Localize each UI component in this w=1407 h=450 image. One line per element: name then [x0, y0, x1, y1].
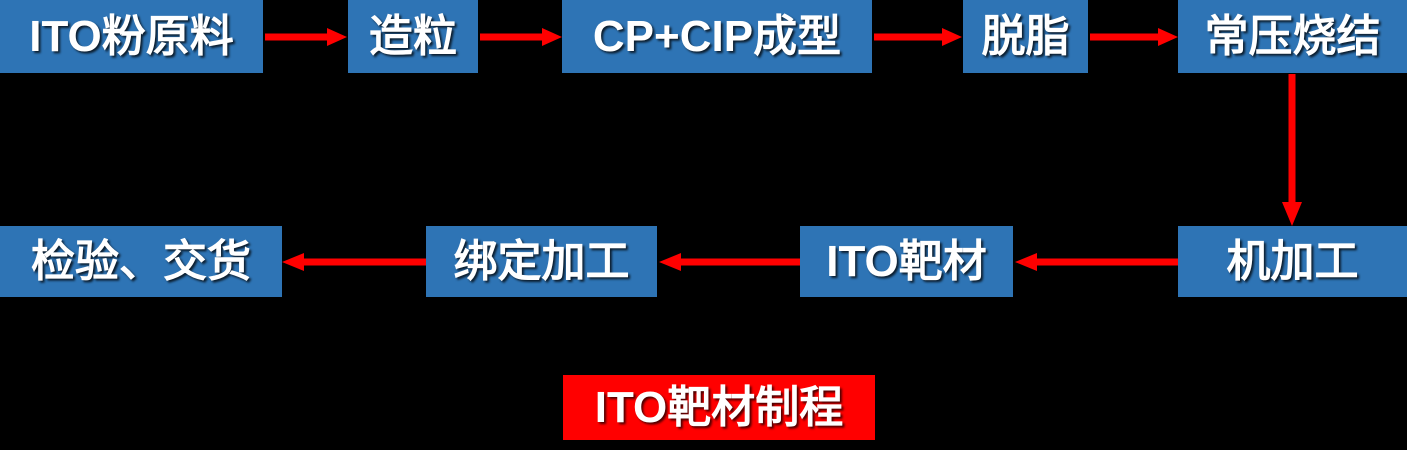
node-label: 绑定加工: [454, 240, 630, 284]
arrow-degreasing-to-sintering: [1090, 26, 1178, 48]
node-ito-target[interactable]: ITO靶材: [800, 226, 1013, 297]
node-degreasing[interactable]: 脱脂: [963, 0, 1088, 73]
node-label: 造粒: [369, 15, 457, 59]
arrow-bonding-to-inspection: [282, 251, 426, 273]
node-atmospheric-sintering[interactable]: 常压烧结: [1178, 0, 1407, 73]
node-ito-powder-raw-material[interactable]: ITO粉原料: [0, 0, 263, 73]
arrow-powder-to-granulation: [265, 26, 347, 48]
node-label: CP+CIP成型: [593, 15, 841, 59]
arrow-machining-to-target: [1015, 251, 1178, 273]
node-label: 脱脂: [982, 15, 1070, 59]
arrow-granulation-to-forming: [480, 26, 562, 48]
node-cp-cip-forming[interactable]: CP+CIP成型: [562, 0, 872, 73]
node-machining[interactable]: 机加工: [1178, 226, 1407, 297]
arrow-sintering-to-machining: [1279, 74, 1305, 226]
diagram-title-label: ITO靶材制程: [595, 386, 844, 430]
arrow-forming-to-degreasing: [874, 26, 962, 48]
node-label: 常压烧结: [1205, 15, 1381, 59]
node-label: 检验、交货: [31, 240, 251, 284]
node-label: ITO粉原料: [29, 15, 234, 59]
diagram-title: ITO靶材制程: [563, 375, 875, 440]
node-granulation[interactable]: 造粒: [348, 0, 478, 73]
arrow-target-to-bonding: [659, 251, 800, 273]
node-label: ITO靶材: [826, 240, 987, 284]
flowchart-canvas: ITO粉原料 造粒 CP+CIP成型 脱脂 常压烧结: [0, 0, 1407, 450]
node-label: 机加工: [1227, 240, 1359, 284]
node-bonding-processing[interactable]: 绑定加工: [426, 226, 657, 297]
node-inspection-delivery[interactable]: 检验、交货: [0, 226, 282, 297]
